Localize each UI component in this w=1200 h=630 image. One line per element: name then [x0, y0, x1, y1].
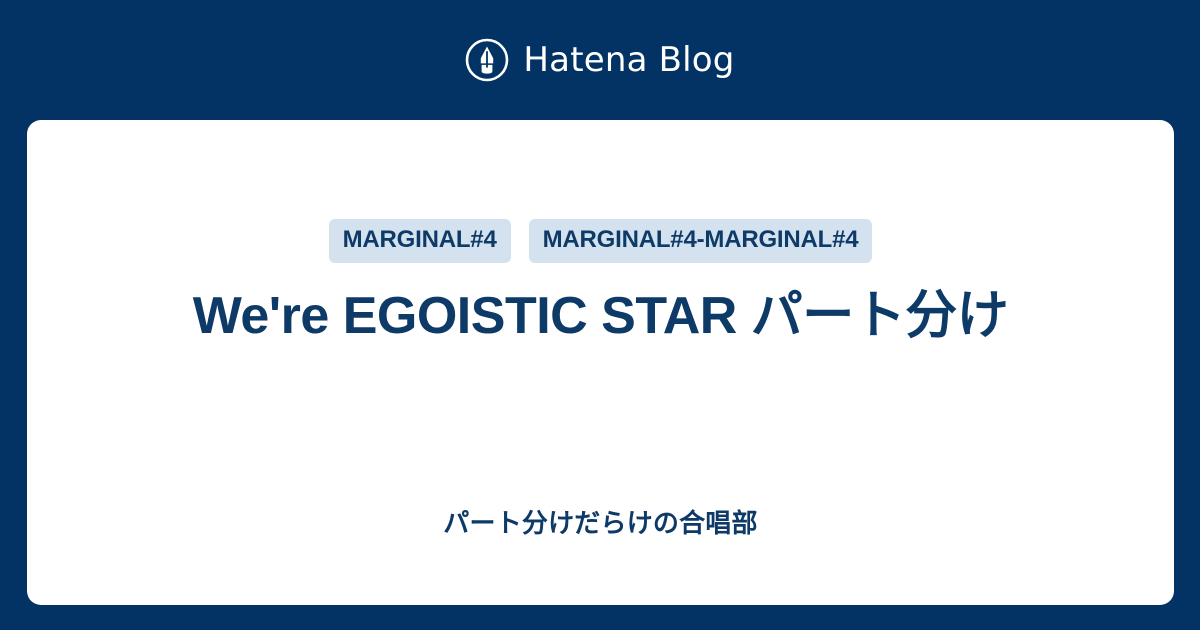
brand-name-label: Hatena Blog: [523, 43, 734, 77]
tag-pill[interactable]: MARGINAL#4-MARGINAL#4: [529, 219, 873, 263]
tag-pill[interactable]: MARGINAL#4: [329, 219, 511, 263]
hatena-blog-pen-nib-icon: [465, 38, 509, 82]
blog-name: パート分けだらけの合唱部: [27, 508, 1174, 539]
hatena-blog-brand: Hatena Blog: [0, 0, 1200, 120]
entry-title: We're EGOISTIC STAR パート分け: [153, 285, 1049, 347]
ogp-card-canvas: Hatena Blog MARGINAL#4 MARGINAL#4-MARGIN…: [0, 0, 1200, 630]
entry-card: MARGINAL#4 MARGINAL#4-MARGINAL#4 We're E…: [27, 120, 1174, 605]
tag-list: MARGINAL#4 MARGINAL#4-MARGINAL#4: [329, 219, 873, 263]
